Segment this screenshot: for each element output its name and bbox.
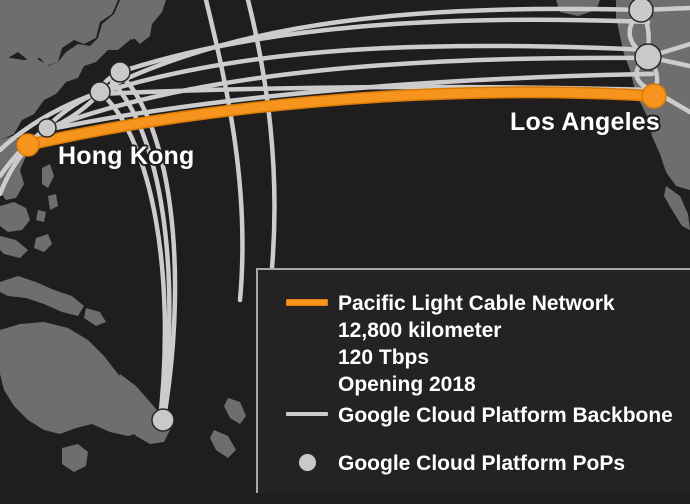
- legend-swatch-wrap-pops: [276, 450, 338, 472]
- cable-map-figure: Hong Kong Los Angeles Pacific Light Cabl…: [0, 0, 690, 504]
- cable-endpoint-hong-kong[interactable]: [17, 134, 39, 156]
- cable-endpoint-los-angeles[interactable]: [642, 84, 666, 108]
- legend-cable-capacity: 120 Tbps: [338, 344, 615, 371]
- legend-cable-opening: Opening 2018: [338, 371, 615, 398]
- legend-swatch-wrap-backbone: [276, 402, 338, 416]
- pop-sydney[interactable]: [152, 409, 174, 431]
- orange-line-swatch-icon: [286, 299, 328, 306]
- pop-east-asia-north[interactable]: [110, 62, 130, 82]
- legend-cable-text-block: Pacific Light Cable Network 12,800 kilom…: [338, 290, 615, 398]
- pop-us-west-south[interactable]: [635, 44, 661, 70]
- pop-us-west-north[interactable]: [629, 0, 653, 22]
- pop-east-asia-south[interactable]: [90, 82, 110, 102]
- map-legend: Pacific Light Cable Network 12,800 kilom…: [256, 268, 690, 493]
- legend-pops-label: Google Cloud Platform PoPs: [338, 450, 625, 477]
- legend-row-backbone: Google Cloud Platform Backbone: [276, 402, 673, 429]
- pop-hong-kong-area[interactable]: [38, 119, 56, 137]
- legend-row-pacific-light-cable: Pacific Light Cable Network 12,800 kilom…: [276, 290, 615, 398]
- legend-backbone-label: Google Cloud Platform Backbone: [338, 402, 673, 429]
- legend-cable-name: Pacific Light Cable Network: [338, 290, 615, 317]
- legend-cable-length: 12,800 kilometer: [338, 317, 615, 344]
- legend-swatch-wrap-cable: [276, 290, 338, 306]
- legend-row-pops: Google Cloud Platform PoPs: [276, 450, 625, 477]
- gray-dot-swatch-icon: [298, 453, 317, 472]
- gray-line-swatch-icon: [286, 412, 328, 416]
